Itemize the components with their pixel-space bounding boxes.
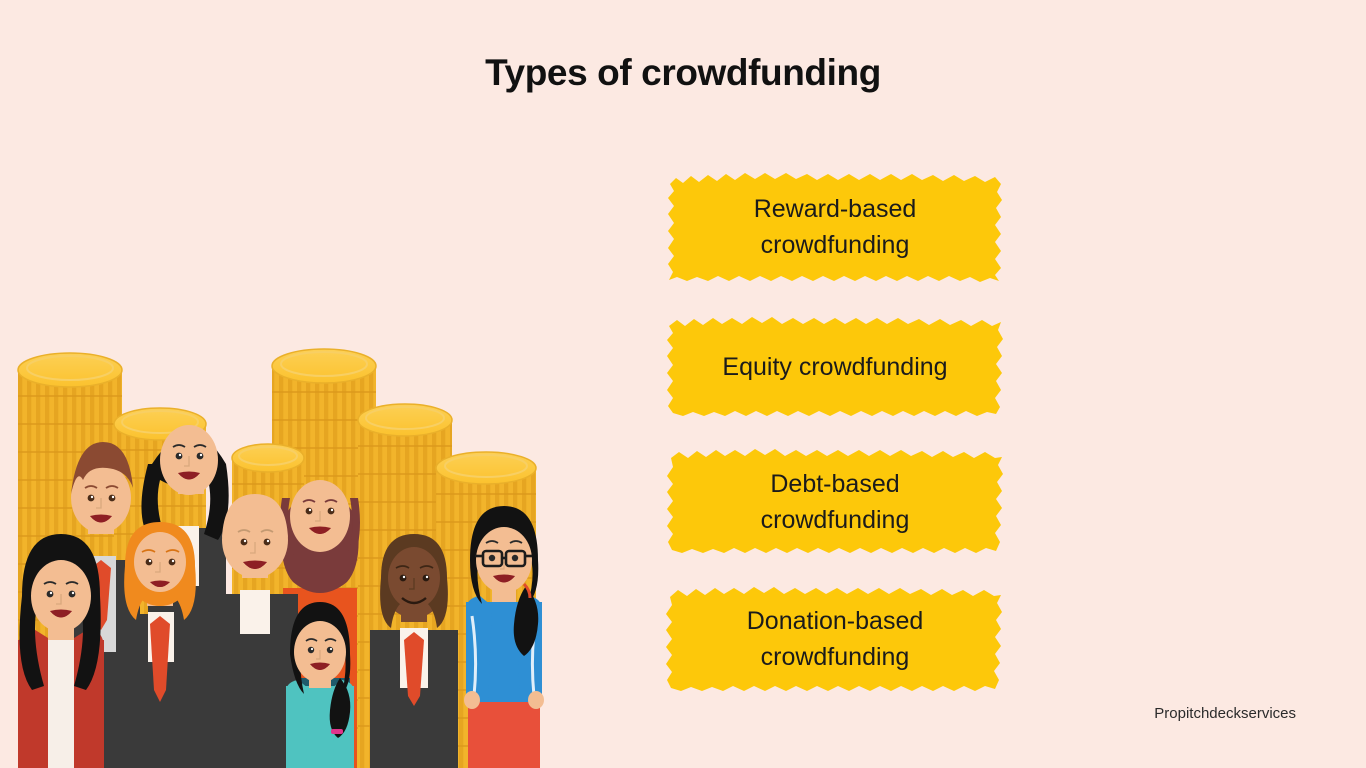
card-label: Donation-based crowdfunding — [729, 603, 942, 676]
card-label-line2: crowdfunding — [761, 502, 910, 538]
card-label: Debt-based crowdfunding — [743, 466, 928, 539]
card-donation-based[interactable]: Donation-based crowdfunding — [665, 580, 1005, 698]
card-label: Equity crowdfunding — [704, 349, 965, 385]
card-debt-based[interactable]: Debt-based crowdfunding — [665, 443, 1005, 561]
page-title: Types of crowdfunding — [0, 52, 1366, 94]
card-label-line1: Debt-based — [761, 466, 910, 502]
person-bald-man-dark-sweater — [212, 494, 298, 768]
card-label-line2: crowdfunding — [747, 639, 924, 675]
card-label-line1: Equity crowdfunding — [722, 349, 947, 385]
card-label-line2: crowdfunding — [754, 227, 917, 263]
person-man-ginger-beard — [118, 522, 202, 768]
card-label-line1: Donation-based — [747, 603, 924, 639]
crowdfunding-illustration — [0, 348, 570, 768]
person-girl-braid-teal-top — [286, 602, 354, 768]
person-bearded-man-dark-suit — [370, 534, 458, 768]
card-label: Reward-based crowdfunding — [736, 191, 935, 264]
person-woman-glasses-blue-top — [464, 506, 544, 768]
watermark-text: Propitchdeckservices — [1154, 705, 1296, 722]
slide-canvas: Types of crowdfunding — [0, 0, 1366, 768]
card-equity[interactable]: Equity crowdfunding — [665, 312, 1005, 422]
card-reward-based[interactable]: Reward-based crowdfunding — [665, 168, 1005, 286]
person-woman-black-hair-red-jacket — [18, 534, 104, 768]
card-label-line1: Reward-based — [754, 191, 917, 227]
